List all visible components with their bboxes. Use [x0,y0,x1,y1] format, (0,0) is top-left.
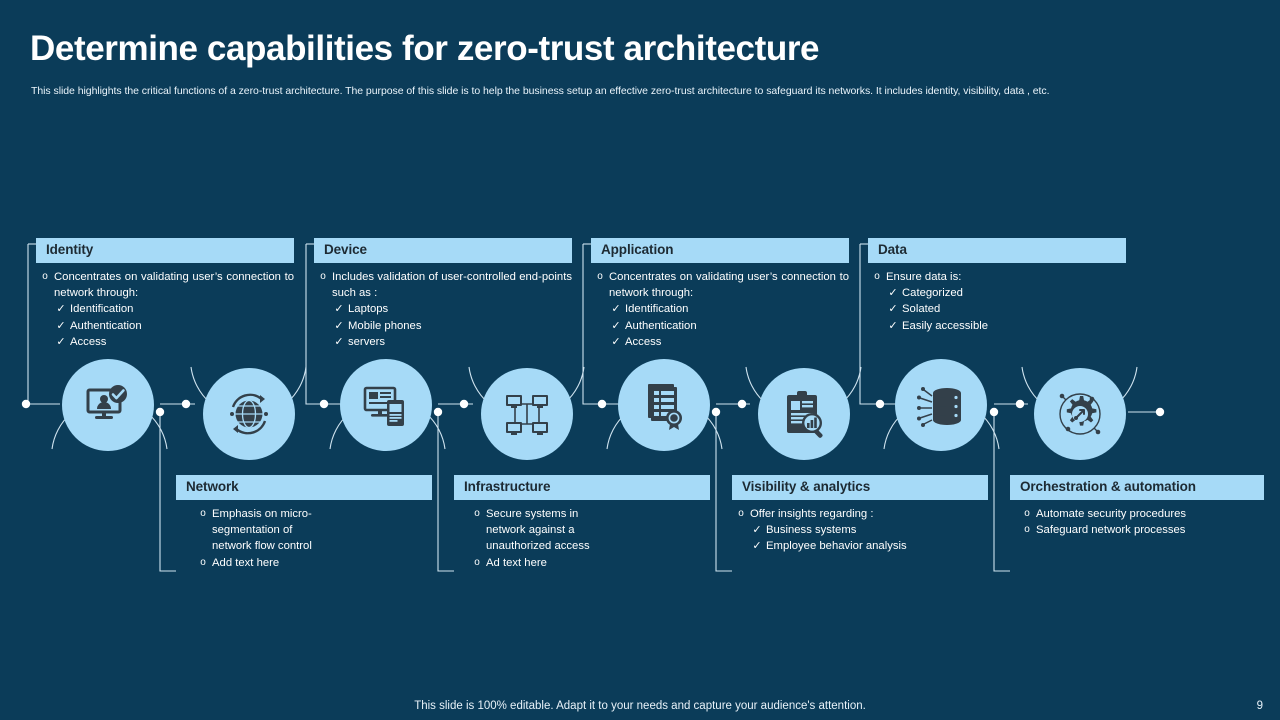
list-item: ✓ Mobile phones [314,318,572,334]
list-item: o Safeguard network processes [1018,522,1264,538]
node-application[interactable] [618,359,710,451]
gear-automation-icon [1055,389,1105,439]
card-application[interactable]: Application o Concentrates on validating… [591,238,849,350]
card-title: Visibility & analytics [732,475,988,500]
dot-7 [1016,400,1024,408]
card-network[interactable]: Network o Emphasis on micro-segmentation… [176,475,432,571]
card-data[interactable]: Data o Ensure data is: ✓ Categorized ✓ S… [868,238,1126,334]
check-icon: ✓ [884,285,902,301]
list-item: ✓ servers [314,334,572,350]
network-topology-icon [502,389,552,439]
stem-bottom-1 [160,412,176,571]
dot-6b [990,408,998,416]
list-item-text: Employee behavior analysis [766,538,988,554]
list-item-text: Safeguard network processes [1036,522,1264,538]
dot-2 [320,400,328,408]
node-network[interactable] [203,368,295,460]
list-item-text: Offer insights regarding : [750,506,988,522]
dot-5 [738,400,746,408]
bullet-circle-icon: o [36,269,54,285]
check-icon: ✓ [884,301,902,317]
list-item: o Emphasis on micro-segmentation of netw… [194,506,320,555]
check-icon: ✓ [607,318,625,334]
monitor-user-check-icon [83,380,133,430]
list-item-text: Authentication [70,318,294,334]
check-icon: ✓ [330,318,348,334]
list-item: o Includes validation of user-controlled… [314,269,572,301]
bullet-circle-icon: o [194,555,212,571]
list-item-text: Concentrates on validating user’s connec… [609,269,849,301]
database-circuit-icon [916,380,966,430]
node-device[interactable] [340,359,432,451]
list-item: ✓ Authentication [36,318,294,334]
bullet-circle-icon: o [732,506,750,522]
card-body: o Ensure data is: ✓ Categorized ✓ Solate… [868,263,1126,334]
check-icon: ✓ [52,301,70,317]
bullet-circle-icon: o [468,506,486,522]
list-item-text: Concentrates on validating user’s connec… [54,269,294,301]
list-item-text: Ad text here [486,555,594,571]
list-item: ✓ Access [591,334,849,350]
card-body: o Includes validation of user-controlled… [314,263,572,350]
card-infrastructure[interactable]: Infrastructure o Secure systems in netwo… [454,475,710,571]
stem-bottom-2 [438,412,454,571]
check-icon: ✓ [748,522,766,538]
list-item-text: Emphasis on micro-segmentation of networ… [212,506,320,555]
list-item-text: Add text here [212,555,320,571]
list-item-text: servers [348,334,572,350]
card-title: Network [176,475,432,500]
dot-1 [182,400,190,408]
bullet-circle-icon: o [868,269,886,285]
check-icon: ✓ [52,318,70,334]
list-item-text: Secure systems in network against a unau… [486,506,594,555]
globe-refresh-icon [224,389,274,439]
list-item-text: Laptops [348,301,572,317]
card-title: Identity [36,238,294,263]
node-infrastructure[interactable] [481,368,573,460]
list-item: o Add text here [194,555,320,571]
list-item-text: Access [625,334,849,350]
dot-end [1156,408,1164,416]
list-item-text: Mobile phones [348,318,572,334]
list-item: ✓ Identification [591,301,849,317]
node-orchestration-automation[interactable] [1034,368,1126,460]
list-item: o Secure systems in network against a un… [468,506,594,555]
card-title: Infrastructure [454,475,710,500]
check-icon: ✓ [884,318,902,334]
bullet-circle-icon: o [314,269,332,285]
card-title: Device [314,238,572,263]
list-item-text: Automate security procedures [1036,506,1264,522]
list-item-text: Business systems [766,522,988,538]
card-title: Orchestration & automation [1010,475,1264,500]
list-item-text: Authentication [625,318,849,334]
list-item-text: Ensure data is: [886,269,1126,285]
list-item-text: Easily accessible [902,318,1126,334]
card-identity[interactable]: Identity o Concentrates on validating us… [36,238,294,350]
card-body: o Emphasis on micro-segmentation of netw… [176,500,320,571]
list-item: ✓ Solated [868,301,1126,317]
list-item-text: Identification [70,301,294,317]
list-item: ✓ Categorized [868,285,1126,301]
list-item: o Ensure data is: [868,269,1126,285]
check-icon: ✓ [330,301,348,317]
list-item: ✓ Authentication [591,318,849,334]
node-identity[interactable] [62,359,154,451]
card-body: o Secure systems in network against a un… [454,500,594,571]
list-item-text: Categorized [902,285,1126,301]
connector-diagram [0,0,1280,720]
check-icon: ✓ [330,334,348,350]
list-item: ✓ Identification [36,301,294,317]
list-item-text: Includes validation of user-controlled e… [332,269,572,301]
dot-3 [460,400,468,408]
list-item: o Offer insights regarding : [732,506,988,522]
list-item: ✓ Employee behavior analysis [732,538,988,554]
card-body: o Offer insights regarding : ✓ Business … [732,500,988,555]
check-icon: ✓ [607,334,625,350]
card-body: o Concentrates on validating user’s conn… [36,263,294,350]
dot-6 [876,400,884,408]
card-visibility-analytics[interactable]: Visibility & analytics o Offer insights … [732,475,988,555]
list-item: ✓ Easily accessible [868,318,1126,334]
list-item: o Ad text here [468,555,594,571]
card-device[interactable]: Device o Includes validation of user-con… [314,238,572,350]
bullet-circle-icon: o [1018,506,1036,522]
list-item-text: Identification [625,301,849,317]
stem-bottom-4 [994,412,1010,571]
monitor-mobile-icon [361,380,411,430]
clipboard-magnifier-chart-icon [779,389,829,439]
bullet-circle-icon: o [591,269,609,285]
dot-start [22,400,30,408]
card-body: o Concentrates on validating user’s conn… [591,263,849,350]
list-item-text: Access [70,334,294,350]
node-visibility-analytics[interactable] [758,368,850,460]
card-orchestration-automation[interactable]: Orchestration & automation o Automate se… [1010,475,1264,538]
list-item: o Concentrates on validating user’s conn… [36,269,294,301]
footer-note: This slide is 100% editable. Adapt it to… [0,700,1280,712]
bullet-circle-icon: o [194,506,212,522]
bullet-circle-icon: o [468,555,486,571]
card-body: o Automate security procedures o Safegua… [1010,500,1264,538]
dot-1b [156,408,164,416]
check-icon: ✓ [748,538,766,554]
dot-4 [598,400,606,408]
check-icon: ✓ [52,334,70,350]
list-item-text: Solated [902,301,1126,317]
list-item: o Automate security procedures [1018,506,1264,522]
document-certificate-icon [639,380,689,430]
node-data[interactable] [895,359,987,451]
list-item: o Concentrates on validating user’s conn… [591,269,849,301]
check-icon: ✓ [607,301,625,317]
card-title: Application [591,238,849,263]
dot-2b [434,408,442,416]
page-number: 9 [1257,700,1263,712]
list-item: ✓ Access [36,334,294,350]
list-item: ✓ Laptops [314,301,572,317]
card-title: Data [868,238,1126,263]
slide-canvas: Determine capabilities for zero-trust ar… [0,0,1280,720]
list-item: ✓ Business systems [732,522,988,538]
dot-4b [712,408,720,416]
bullet-circle-icon: o [1018,522,1036,538]
